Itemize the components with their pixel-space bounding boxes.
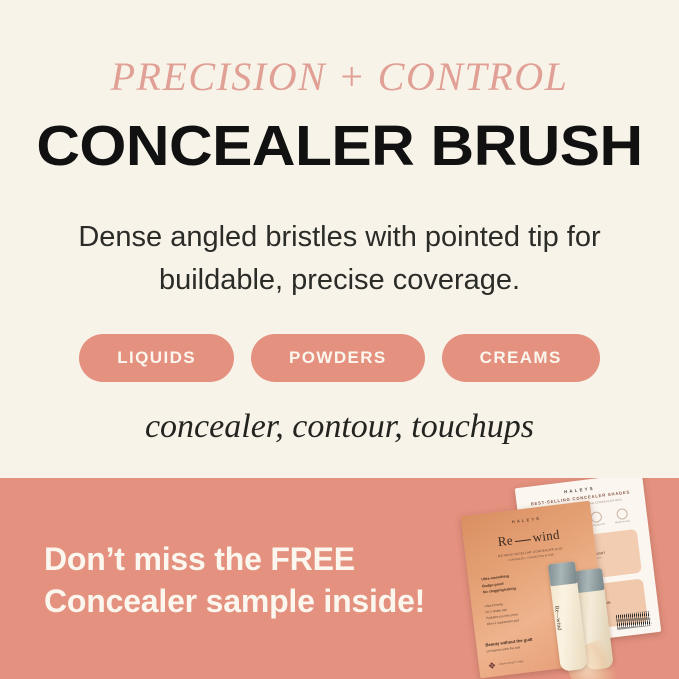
- leaf-icon: ❖: [488, 661, 497, 671]
- promo-line-2: Concealer sample inside!: [44, 580, 425, 622]
- flag-icon: [616, 508, 628, 520]
- front-card-leaf-badge: ❖ VEGAN CRUELTY FREE: [488, 658, 525, 671]
- tube-cap-icon: [575, 568, 604, 593]
- front-card-leaf-note: VEGAN CRUELTY FREE: [499, 661, 524, 667]
- pill-liquids[interactable]: LIQUIDS: [79, 334, 234, 382]
- sample-product-photo: HALEYS BEST-SELLING CONCEALER SHADES TRA…: [470, 480, 679, 679]
- use-case-pill-row: LIQUIDS POWDERS CREAMS: [0, 334, 679, 382]
- pill-creams[interactable]: CREAMS: [442, 334, 600, 382]
- front-card-title-a: Re: [497, 532, 514, 549]
- title-dash-icon: [515, 539, 531, 542]
- front-card-footer: Beauty without the guilt 10 reasons wort…: [485, 637, 533, 654]
- tube-label: Re—wind: [553, 605, 562, 630]
- hero-tagline: concealer, contour, touchups: [0, 408, 679, 446]
- hero-eyebrow: PRECISION + CONTROL: [0, 53, 679, 100]
- tube-cap-icon: [548, 561, 577, 586]
- promo-line-1: Don’t miss the FREE: [44, 538, 425, 580]
- front-card-title-b: wind: [532, 527, 561, 545]
- promo-banner-text: Don’t miss the FREE Concealer sample ins…: [44, 538, 425, 622]
- hero-panel: PRECISION + CONTROL CONCEALER BRUSH Dens…: [0, 0, 679, 478]
- pill-powders[interactable]: POWDERS: [251, 334, 425, 382]
- badge-made-in-usa-label: MADE IN USA: [612, 520, 634, 526]
- product-infographic: PRECISION + CONTROL CONCEALER BRUSH Dens…: [0, 0, 679, 679]
- page-title: CONCEALER BRUSH: [0, 113, 679, 179]
- hero-subtitle: Dense angled bristles with pointed tip f…: [50, 216, 629, 302]
- concealer-tubes: Re—wind: [539, 543, 638, 679]
- badge-made-in-usa: MADE IN USA: [610, 507, 634, 526]
- promo-banner: Don’t miss the FREE Concealer sample ins…: [0, 478, 679, 679]
